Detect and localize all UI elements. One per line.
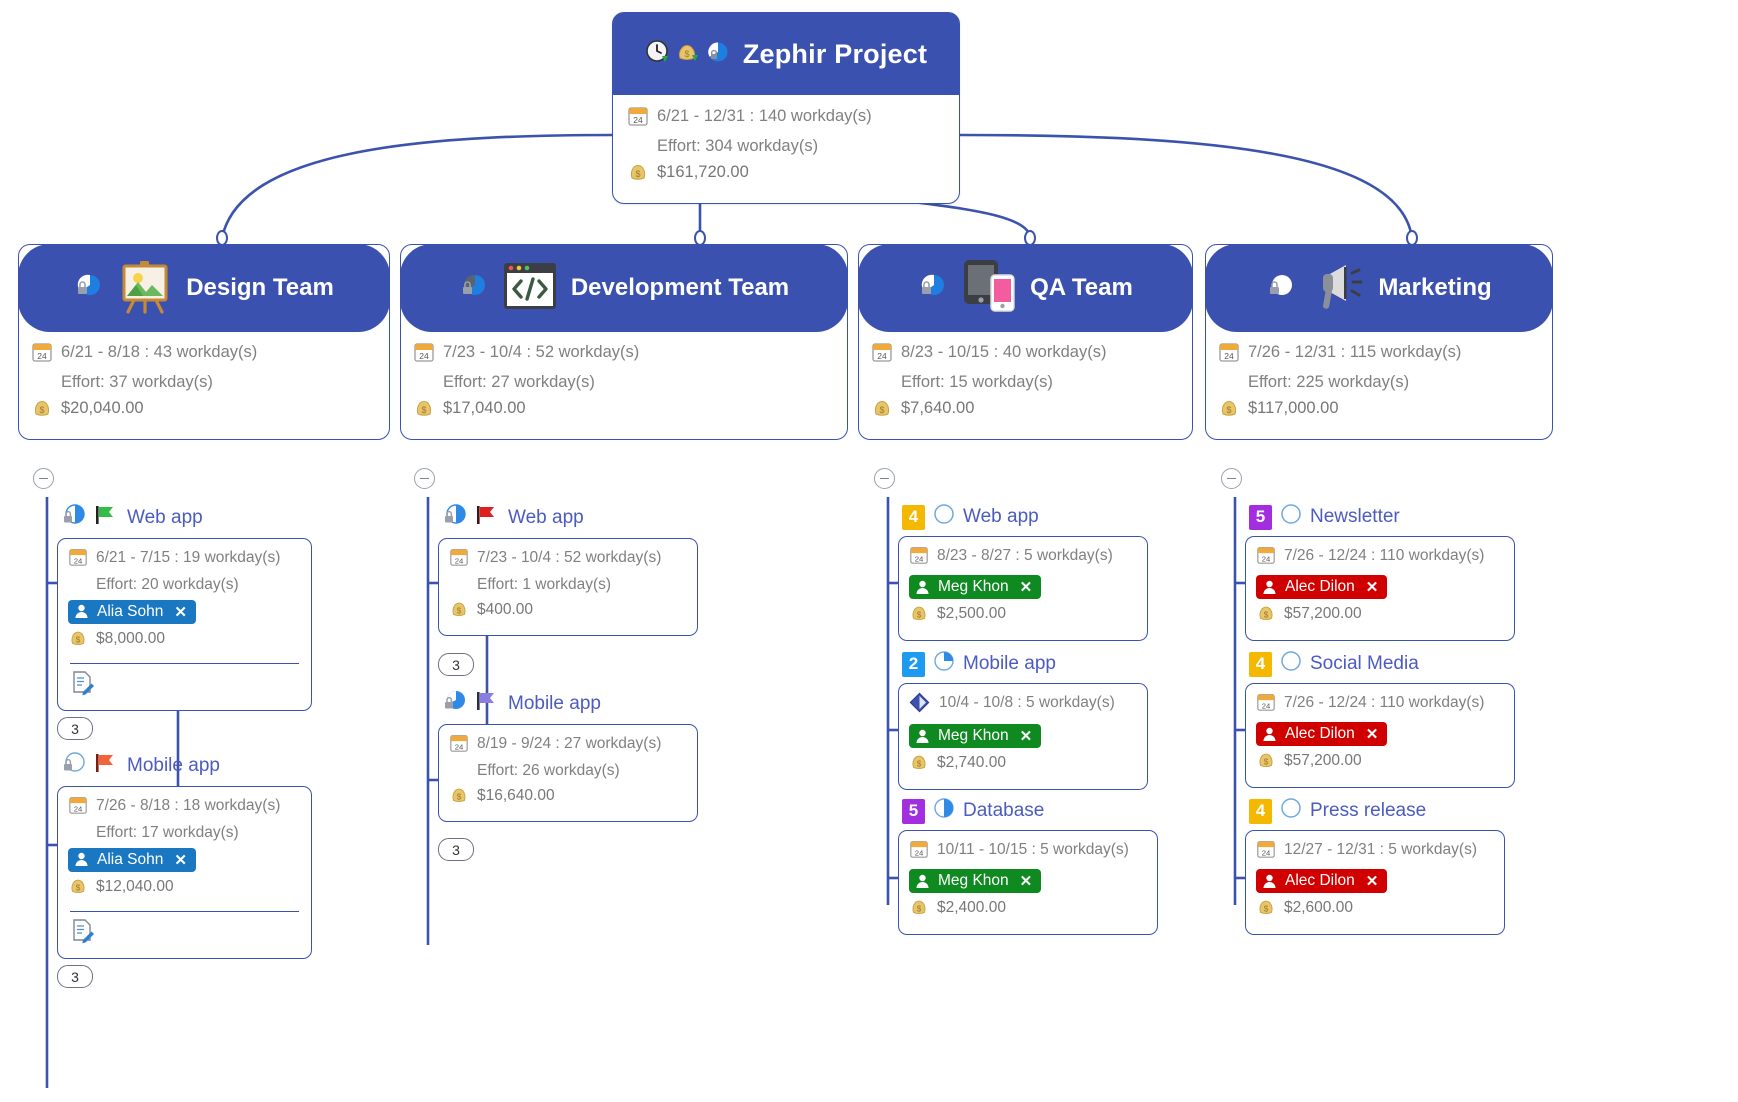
team-body-qa: 24 8/23 - 10/15 : 40 workday(s) Effort: … [859, 331, 1192, 439]
money-bag-icon: $ [1256, 750, 1276, 777]
svg-text:$: $ [1264, 905, 1269, 914]
remove-assignee-icon[interactable]: ✕ [1020, 727, 1033, 745]
progress-circle-icon [932, 502, 956, 532]
child-count: 3 [71, 969, 79, 985]
person-icon [914, 873, 931, 890]
svg-text:$: $ [1264, 611, 1269, 620]
money-bag-icon: $ [31, 397, 53, 427]
subtask-marketing-pressrelease[interactable]: 4 Press release 24 12/27 - 12/31 : 5 wor… [1245, 794, 1505, 935]
team-dates: 7/26 - 12/31 : 115 workday(s) [1248, 341, 1461, 365]
calendar-icon: 24 [1218, 341, 1240, 371]
flag-icon [94, 752, 120, 780]
subtask-date-row: 24 10/11 - 10/15 : 5 workday(s) [909, 839, 1147, 866]
root-title: Zephir Project [743, 39, 927, 70]
svg-text:$: $ [917, 905, 922, 914]
subtask-cost: $16,640.00 [477, 785, 555, 807]
priority-badge[interactable]: 4 [902, 505, 925, 530]
remove-assignee-icon[interactable]: ✕ [1020, 872, 1033, 890]
team-cost-row: $ $17,040.00 [413, 397, 835, 427]
team-cost: $20,040.00 [61, 397, 144, 421]
money-bag-icon: $ [1256, 603, 1276, 630]
subtask-card: 24 12/27 - 12/31 : 5 workday(s) Alec Dil… [1245, 830, 1505, 935]
team-node-qa[interactable]: QA Team 24 8/23 - 10/15 : 40 workday(s) … [858, 244, 1193, 440]
person-icon [1261, 726, 1278, 743]
team-effort: Effort: 37 workday(s) [31, 371, 377, 395]
subtask-qa-webapp[interactable]: 4 Web app 24 8/23 - 8/27 : 5 workday(s) … [898, 500, 1148, 641]
calendar-icon: 24 [871, 341, 893, 371]
subtask-label: Web app [508, 507, 584, 529]
svg-text:24: 24 [455, 556, 464, 565]
team-cost: $7,640.00 [901, 397, 974, 421]
subtask-cost-row: $ $16,640.00 [449, 785, 687, 812]
subtask-cost: $2,400.00 [937, 897, 1006, 919]
calendar-icon: 24 [909, 839, 929, 866]
team-header-qa[interactable]: QA Team [858, 244, 1193, 332]
subtask-cost: $12,040.00 [96, 876, 174, 898]
progress-pie-lock-icon [459, 271, 489, 306]
money-bag-icon: $ [909, 897, 929, 924]
progress-pie-lock-icon [442, 502, 468, 534]
team-effort: Effort: 225 workday(s) [1218, 371, 1540, 395]
subtask-qa-mobileapp[interactable]: 2 Mobile app 10/4 - 10/8 : 5 workday(s) … [898, 647, 1148, 790]
subtask-title-row[interactable]: 5 Database [898, 794, 1158, 830]
team-body-design: 24 6/21 - 8/18 : 43 workday(s) Effort: 3… [19, 331, 389, 439]
money-bag-icon: $ [627, 161, 649, 191]
svg-text:$: $ [76, 883, 81, 892]
progress-pie-lock-icon [442, 688, 468, 720]
team-cost-row: $ $20,040.00 [31, 397, 377, 427]
subtask-dates: 10/4 - 10/8 : 5 workday(s) [939, 692, 1115, 714]
flag-icon [475, 504, 501, 532]
assignee-chip[interactable]: Alec Dilon ✕ [1256, 575, 1387, 599]
svg-text:$: $ [76, 635, 81, 644]
calendar-icon: 24 [31, 341, 53, 371]
subtask-card: 24 10/11 - 10/15 : 5 workday(s) Meg Khon… [898, 830, 1158, 935]
note-edit-icon[interactable] [70, 683, 96, 700]
subtask-title-row[interactable]: Mobile app [438, 686, 698, 724]
collapse-toggle-design[interactable] [33, 468, 54, 489]
child-count-badge[interactable]: 3 [57, 965, 93, 988]
subtask-label: Social Media [1310, 653, 1419, 675]
subtask-dev-webapp[interactable]: Web app 24 7/23 - 10/4 : 52 workday(s) E… [438, 500, 698, 636]
money-bag-arrow-icon: $ [675, 39, 701, 70]
subtask-effort: Effort: 1 workday(s) [449, 574, 687, 596]
subtask-card: 24 7/23 - 10/4 : 52 workday(s) Effort: 1… [438, 538, 698, 636]
team-title-marketing: Marketing [1378, 274, 1491, 302]
person-icon [73, 603, 90, 620]
progress-pie-lock-icon [74, 271, 104, 306]
subtask-effort: Effort: 26 workday(s) [449, 760, 687, 782]
team-node-development[interactable]: Development Team 24 7/23 - 10/4 : 52 wor… [400, 244, 848, 440]
subtask-card: 24 7/26 - 12/24 : 110 workday(s) Alec Di… [1245, 536, 1515, 641]
code-window-icon [499, 255, 561, 322]
subtask-cost-row: $ $8,000.00 [68, 628, 301, 655]
mindmap-canvas: $ Zephir Project [0, 0, 1738, 1102]
subtask-title-row[interactable]: Web app [438, 500, 698, 538]
note-edit-icon[interactable] [70, 931, 96, 948]
assignee-name: Alec Dilon [1285, 578, 1355, 596]
subtask-title-row[interactable]: Mobile app [57, 748, 312, 786]
svg-text:$: $ [1264, 758, 1269, 767]
calendar-icon: 24 [449, 733, 469, 760]
collapse-toggle-marketing[interactable] [1221, 468, 1242, 489]
assignee-chip[interactable]: Meg Khon ✕ [909, 724, 1041, 748]
calendar-icon: 24 [1256, 839, 1276, 866]
subtask-date-row: 24 7/26 - 12/24 : 110 workday(s) [1256, 692, 1504, 719]
team-node-design[interactable]: Design Team 24 6/21 - 8/18 : 43 workday(… [18, 244, 390, 440]
progress-circle-icon [1279, 796, 1303, 826]
person-icon [914, 579, 931, 596]
root-effort: Effort: 304 workday(s) [627, 135, 945, 159]
remove-assignee-icon[interactable]: ✕ [1366, 578, 1379, 596]
subtask-date-row: 10/4 - 10/8 : 5 workday(s) [909, 692, 1137, 721]
subtask-cost-row: $ $57,200.00 [1256, 750, 1504, 777]
team-body-marketing: 24 7/26 - 12/31 : 115 workday(s) Effort:… [1206, 331, 1552, 439]
child-count: 3 [71, 721, 79, 737]
calendar-icon: 24 [1256, 692, 1276, 719]
root-cost-row: $ $161,720.00 [627, 161, 945, 191]
team-node-marketing[interactable]: Marketing 24 7/26 - 12/31 : 115 workday(… [1205, 244, 1553, 440]
remove-assignee-icon[interactable]: ✕ [1366, 872, 1379, 890]
team-date-row: 24 6/21 - 8/18 : 43 workday(s) [31, 341, 377, 371]
calendar-icon: 24 [909, 545, 929, 572]
svg-text:24: 24 [877, 351, 887, 361]
subtask-label: Mobile app [508, 693, 601, 715]
svg-text:$: $ [421, 405, 426, 415]
calendar-icon: 24 [627, 105, 649, 135]
child-count: 3 [452, 842, 460, 858]
subtask-cost: $400.00 [477, 599, 533, 621]
subtask-title-row[interactable]: 4 Social Media [1245, 647, 1515, 683]
divider [70, 663, 299, 664]
subtask-card: 24 6/21 - 7/15 : 19 workday(s) Effort: 2… [57, 538, 312, 711]
team-dates: 7/23 - 10/4 : 52 workday(s) [443, 341, 639, 365]
assignee-chip[interactable]: Alec Dilon ✕ [1256, 869, 1387, 893]
progress-pie-icon [705, 39, 731, 70]
assignee-chip[interactable]: Meg Khon ✕ [909, 575, 1041, 599]
svg-text:$: $ [39, 405, 44, 415]
team-dates: 6/21 - 8/18 : 43 workday(s) [61, 341, 257, 365]
svg-text:$: $ [917, 611, 922, 620]
svg-text:$: $ [917, 760, 922, 769]
team-title-qa: QA Team [1030, 274, 1133, 302]
assignee-name: Meg Khon [938, 727, 1009, 745]
subtask-label: Newsletter [1310, 506, 1400, 528]
subtask-dates: 7/23 - 10/4 : 52 workday(s) [477, 547, 661, 569]
money-bag-icon: $ [909, 752, 929, 779]
subtask-cost: $8,000.00 [96, 628, 165, 650]
svg-text:$: $ [635, 169, 640, 179]
priority-badge[interactable]: 4 [1249, 652, 1272, 677]
subtask-effort: Effort: 20 workday(s) [68, 574, 301, 596]
svg-text:24: 24 [74, 556, 83, 565]
assignee-chip[interactable]: Alec Dilon ✕ [1256, 722, 1387, 746]
remove-assignee-icon[interactable]: ✕ [174, 603, 187, 621]
subtask-date-row: 24 7/26 - 8/18 : 18 workday(s) [68, 795, 301, 822]
subtask-cost-row: $ $2,600.00 [1256, 897, 1494, 924]
subtask-dev-mobileapp[interactable]: Mobile app 24 8/19 - 9/24 : 27 workday(s… [438, 686, 698, 822]
subtask-title-row[interactable]: 4 Press release [1245, 794, 1505, 830]
subtask-dates: 6/21 - 7/15 : 19 workday(s) [96, 547, 280, 569]
child-count-badge[interactable]: 3 [438, 653, 474, 676]
assignee-name: Meg Khon [938, 872, 1009, 890]
svg-text:24: 24 [1262, 848, 1271, 857]
team-header-development[interactable]: Development Team [400, 244, 848, 332]
svg-text:24: 24 [633, 115, 643, 125]
person-icon [1261, 579, 1278, 596]
person-icon [914, 728, 931, 745]
subtask-label: Press release [1310, 800, 1426, 822]
priority-badge[interactable]: 5 [902, 799, 925, 824]
subtask-title-row[interactable]: 5 Newsletter [1245, 500, 1515, 536]
assignee-name: Alec Dilon [1285, 725, 1355, 743]
subtask-date-row: 24 12/27 - 12/31 : 5 workday(s) [1256, 839, 1494, 866]
subtask-cost: $2,740.00 [937, 752, 1006, 774]
subtask-cost-row: $ $2,500.00 [909, 603, 1137, 630]
progress-pie-icon [932, 796, 956, 826]
remove-assignee-icon[interactable]: ✕ [174, 851, 187, 869]
root-date-row: 24 6/21 - 12/31 : 140 workday(s) [627, 105, 945, 135]
subtask-cost: $2,500.00 [937, 603, 1006, 625]
subtask-dates: 12/27 - 12/31 : 5 workday(s) [1284, 839, 1477, 861]
person-icon [1261, 873, 1278, 890]
progress-pie-lock-icon [61, 502, 87, 534]
divider [70, 911, 299, 912]
subtask-design-webapp[interactable]: Web app 24 6/21 - 7/15 : 19 workday(s) E… [57, 500, 312, 711]
subtask-marketing-newsletter[interactable]: 5 Newsletter 24 7/26 - 12/24 : 110 workd… [1245, 500, 1515, 641]
team-dates: 8/23 - 10/15 : 40 workday(s) [901, 341, 1106, 365]
team-body-development: 24 7/23 - 10/4 : 52 workday(s) Effort: 2… [401, 331, 847, 439]
child-count-badge[interactable]: 3 [57, 717, 93, 740]
assignee-name: Alia Sohn [97, 603, 163, 621]
team-date-row: 24 7/26 - 12/31 : 115 workday(s) [1218, 341, 1540, 371]
subtask-label: Web app [963, 506, 1039, 528]
svg-text:24: 24 [419, 351, 429, 361]
svg-text:$: $ [457, 792, 462, 801]
svg-text:24: 24 [37, 351, 47, 361]
milestone-diamond-icon [909, 692, 931, 721]
svg-text:24: 24 [915, 554, 924, 563]
subtask-design-mobileapp[interactable]: Mobile app 24 7/26 - 8/18 : 18 workday(s… [57, 748, 312, 959]
money-bag-icon: $ [68, 628, 88, 655]
root-cost: $161,720.00 [657, 161, 749, 185]
subtask-card: 24 7/26 - 12/24 : 110 workday(s) Alec Di… [1245, 683, 1515, 788]
subtask-label: Database [963, 800, 1044, 822]
child-count: 3 [452, 657, 460, 673]
progress-pie-lock-icon [1266, 271, 1296, 306]
easel-picture-icon [114, 255, 176, 322]
assignee-chip[interactable]: Alia Sohn ✕ [68, 600, 196, 624]
subtask-qa-database[interactable]: 5 Database 24 10/11 - 10/15 : 5 workday(… [898, 794, 1158, 935]
team-title-development: Development Team [571, 274, 789, 302]
subtask-date-row: 24 7/26 - 12/24 : 110 workday(s) [1256, 545, 1504, 572]
flag-icon [94, 504, 120, 532]
progress-circle-icon [1279, 502, 1303, 532]
team-title-design: Design Team [186, 274, 334, 302]
assignee-chip[interactable]: Meg Khon ✕ [909, 869, 1041, 893]
subtask-dates: 7/26 - 12/24 : 110 workday(s) [1284, 545, 1484, 567]
subtask-label: Web app [127, 507, 203, 529]
team-cost: $117,000.00 [1248, 397, 1339, 421]
money-bag-icon: $ [449, 785, 469, 812]
money-bag-icon: $ [871, 397, 893, 427]
svg-text:24: 24 [74, 804, 83, 813]
svg-text:24: 24 [1262, 701, 1271, 710]
person-icon [73, 851, 90, 868]
subtask-label: Mobile app [127, 755, 220, 777]
money-bag-icon: $ [68, 876, 88, 903]
calendar-icon: 24 [68, 547, 88, 574]
subtask-cost: $57,200.00 [1284, 750, 1362, 772]
note-row[interactable] [68, 670, 301, 701]
team-effort: Effort: 27 workday(s) [413, 371, 835, 395]
subtask-date-row: 24 8/23 - 8/27 : 5 workday(s) [909, 545, 1137, 572]
subtask-label: Mobile app [963, 653, 1056, 675]
subtask-cost-row: $ $400.00 [449, 599, 687, 626]
collapse-toggle-qa[interactable] [874, 468, 895, 489]
calendar-icon: 24 [1256, 545, 1276, 572]
subtask-dates: 8/19 - 9/24 : 27 workday(s) [477, 733, 661, 755]
svg-text:$: $ [1226, 405, 1231, 415]
svg-text:$: $ [684, 49, 689, 59]
subtask-date-row: 24 8/19 - 9/24 : 27 workday(s) [449, 733, 687, 760]
money-bag-icon: $ [1218, 397, 1240, 427]
progress-circle-icon [1279, 649, 1303, 679]
priority-badge[interactable]: 2 [902, 652, 925, 677]
root-node-header[interactable]: $ Zephir Project [613, 13, 959, 95]
team-cost-row: $ $117,000.00 [1218, 397, 1540, 427]
team-header-design[interactable]: Design Team [18, 244, 390, 332]
svg-text:$: $ [879, 405, 884, 415]
svg-text:24: 24 [455, 742, 464, 751]
progress-pie-icon [932, 649, 956, 679]
subtask-cost-row: $ $57,200.00 [1256, 603, 1504, 630]
subtask-marketing-socialmedia[interactable]: 4 Social Media 24 7/26 - 12/24 : 110 wor… [1245, 647, 1515, 788]
team-date-row: 24 8/23 - 10/15 : 40 workday(s) [871, 341, 1180, 371]
money-bag-icon: $ [909, 603, 929, 630]
money-bag-icon: $ [1256, 897, 1276, 924]
svg-text:24: 24 [1224, 351, 1234, 361]
collapse-toggle-development[interactable] [414, 468, 435, 489]
subtask-card: 24 8/19 - 9/24 : 27 workday(s) Effort: 2… [438, 724, 698, 822]
subtask-dates: 7/26 - 8/18 : 18 workday(s) [96, 795, 280, 817]
remove-assignee-icon[interactable]: ✕ [1020, 578, 1033, 596]
team-cost: $17,040.00 [443, 397, 526, 421]
team-effort: Effort: 15 workday(s) [871, 371, 1180, 395]
progress-pie-lock-icon [61, 750, 87, 782]
clock-arrow-icon [645, 39, 671, 70]
assignee-chip[interactable]: Alia Sohn ✕ [68, 848, 196, 872]
svg-text:24: 24 [1262, 554, 1271, 563]
subtask-title-row[interactable]: 2 Mobile app [898, 647, 1148, 683]
subtask-cost-row: $ $12,040.00 [68, 876, 301, 903]
team-header-marketing[interactable]: Marketing [1205, 244, 1553, 332]
subtask-date-row: 24 7/23 - 10/4 : 52 workday(s) [449, 547, 687, 574]
calendar-icon: 24 [449, 547, 469, 574]
subtask-cost-row: $ $2,740.00 [909, 752, 1137, 779]
calendar-icon: 24 [68, 795, 88, 822]
progress-pie-lock-icon [918, 271, 948, 306]
subtask-title-row[interactable]: Web app [57, 500, 312, 538]
priority-badge[interactable]: 5 [1249, 505, 1272, 530]
svg-text:$: $ [457, 606, 462, 615]
subtask-card: 24 8/23 - 8/27 : 5 workday(s) Meg Khon ✕… [898, 536, 1148, 641]
remove-assignee-icon[interactable]: ✕ [1366, 725, 1379, 743]
subtask-cost: $2,600.00 [1284, 897, 1353, 919]
note-row[interactable] [68, 918, 301, 949]
priority-badge[interactable]: 4 [1249, 799, 1272, 824]
money-bag-icon: $ [449, 599, 469, 626]
subtask-card: 24 7/26 - 8/18 : 18 workday(s) Effort: 1… [57, 786, 312, 959]
child-count-badge[interactable]: 3 [438, 838, 474, 861]
calendar-icon: 24 [413, 341, 435, 371]
assignee-name: Alia Sohn [97, 851, 163, 869]
team-date-row: 24 7/23 - 10/4 : 52 workday(s) [413, 341, 835, 371]
flag-icon [475, 690, 501, 718]
team-cost-row: $ $7,640.00 [871, 397, 1180, 427]
subtask-cost-row: $ $2,400.00 [909, 897, 1147, 924]
megaphone-icon [1306, 255, 1368, 322]
root-dates: 6/21 - 12/31 : 140 workday(s) [657, 105, 872, 129]
subtask-dates: 10/11 - 10/15 : 5 workday(s) [937, 839, 1129, 861]
svg-text:24: 24 [915, 848, 924, 857]
tablet-phone-icon [958, 255, 1020, 322]
assignee-name: Meg Khon [938, 578, 1009, 596]
root-node[interactable]: $ Zephir Project [612, 12, 960, 204]
subtask-cost: $57,200.00 [1284, 603, 1362, 625]
subtask-card: 10/4 - 10/8 : 5 workday(s) Meg Khon ✕ $ … [898, 683, 1148, 790]
money-bag-icon: $ [413, 397, 435, 427]
subtask-dates: 7/26 - 12/24 : 110 workday(s) [1284, 692, 1484, 714]
root-node-body: 24 6/21 - 12/31 : 140 workday(s) Effort:… [613, 95, 959, 203]
subtask-date-row: 24 6/21 - 7/15 : 19 workday(s) [68, 547, 301, 574]
assignee-name: Alec Dilon [1285, 872, 1355, 890]
subtask-dates: 8/23 - 8/27 : 5 workday(s) [937, 545, 1113, 567]
subtask-effort: Effort: 17 workday(s) [68, 822, 301, 844]
subtask-title-row[interactable]: 4 Web app [898, 500, 1148, 536]
